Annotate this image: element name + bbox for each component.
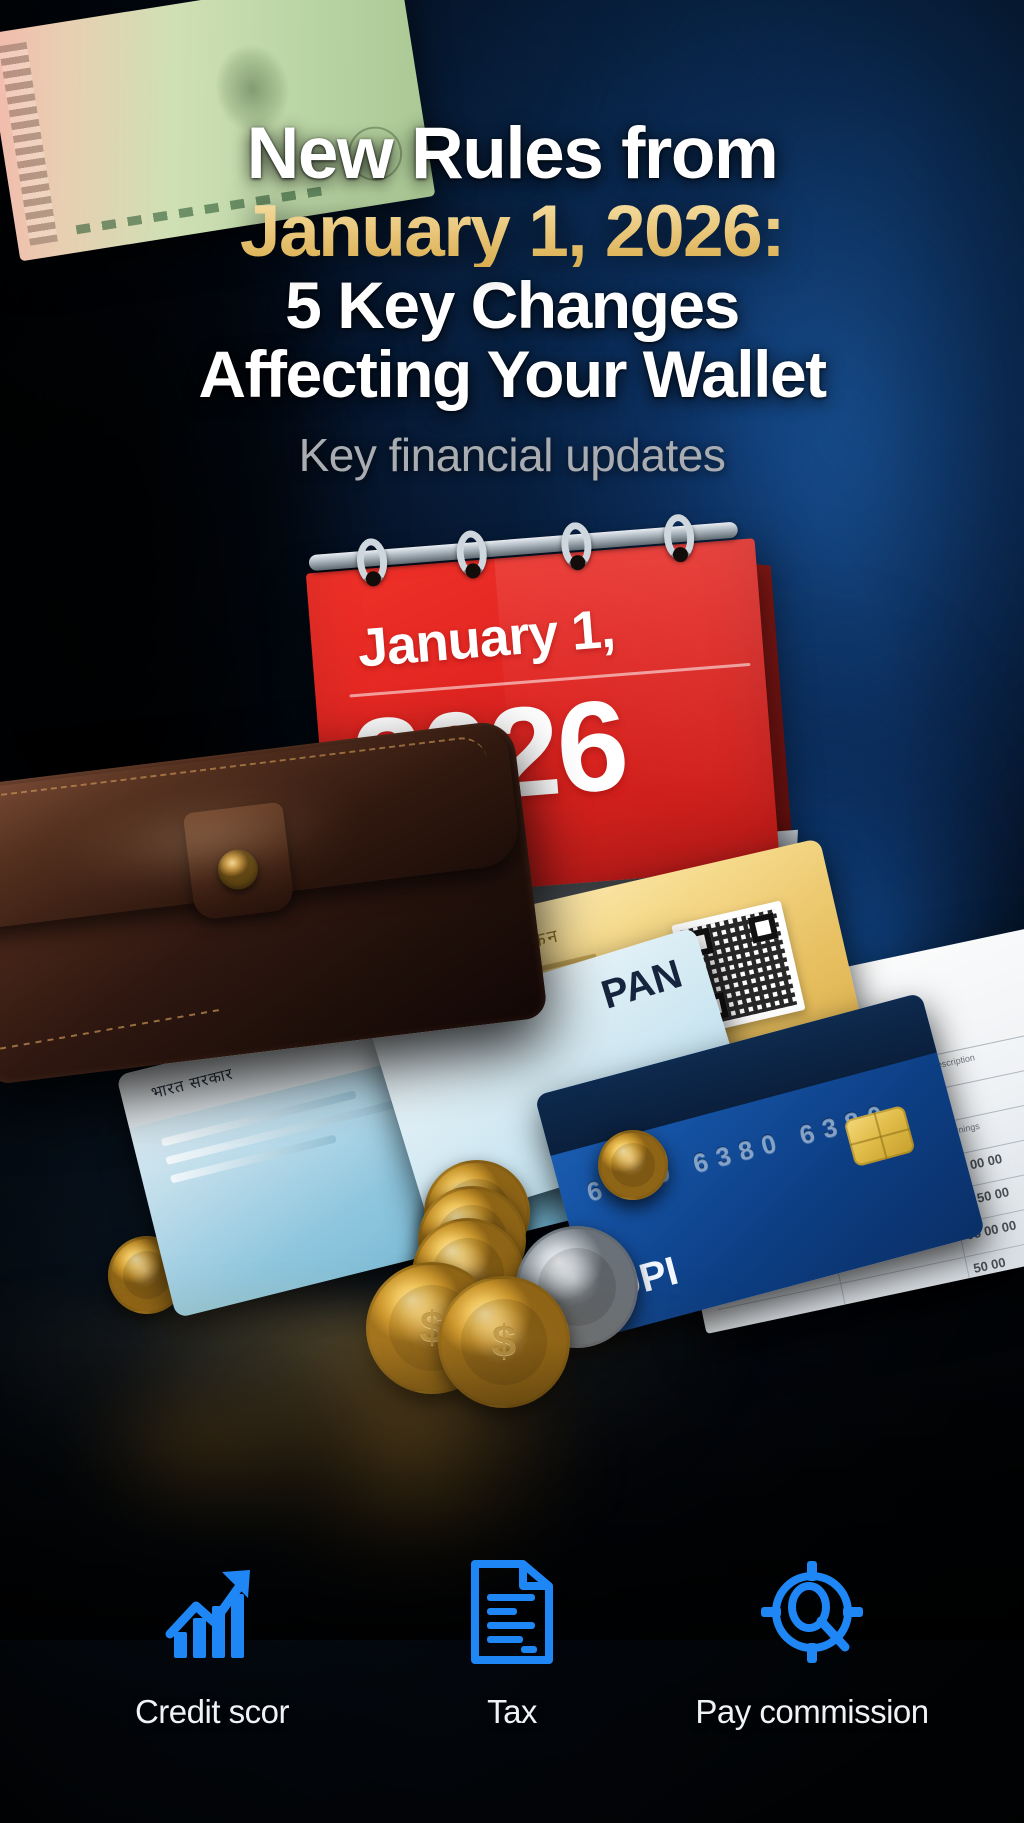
feature-tax[interactable]: Tax: [362, 1557, 662, 1731]
target-search-icon: [758, 1557, 866, 1667]
headline-subtitle: Key financial updates: [26, 428, 998, 482]
headline-block: New Rules from January 1, 2026: 5 Key Ch…: [0, 118, 1024, 482]
feature-row: Credit scor Tax: [0, 1543, 1024, 1823]
wallet-snap-strap: [183, 802, 295, 921]
dollar-symbol-icon: $: [441, 1279, 567, 1405]
headline-line-4: Affecting Your Wallet: [26, 342, 998, 407]
feature-credit-score[interactable]: Credit scor: [62, 1557, 362, 1731]
headline-line-3: 5 Key Changes: [26, 273, 998, 338]
coin-face: [611, 1143, 655, 1187]
gold-dollar-coin: $: [438, 1276, 570, 1408]
pan-card-label: PAN: [596, 952, 687, 1019]
document-icon: [458, 1557, 566, 1667]
feature-pay-commission[interactable]: Pay commission: [662, 1557, 962, 1731]
poster-canvas: New Rules from January 1, 2026: 5 Key Ch…: [0, 0, 1024, 1823]
gold-coin: [598, 1130, 668, 1200]
headline-line-1: New Rules from: [26, 118, 998, 190]
feature-label-pay-commission: Pay commission: [695, 1693, 928, 1731]
headline-line-2-date: January 1, 2026:: [26, 196, 998, 268]
feature-label-credit-score: Credit scor: [135, 1693, 289, 1731]
feature-label-tax: Tax: [487, 1693, 537, 1731]
chart-growth-icon: [158, 1557, 266, 1667]
aadhaar-card-devanagari: भारत सरकार: [149, 1062, 236, 1104]
wallet-snap-button: [216, 847, 261, 892]
wallet-stitching: [0, 1009, 221, 1050]
